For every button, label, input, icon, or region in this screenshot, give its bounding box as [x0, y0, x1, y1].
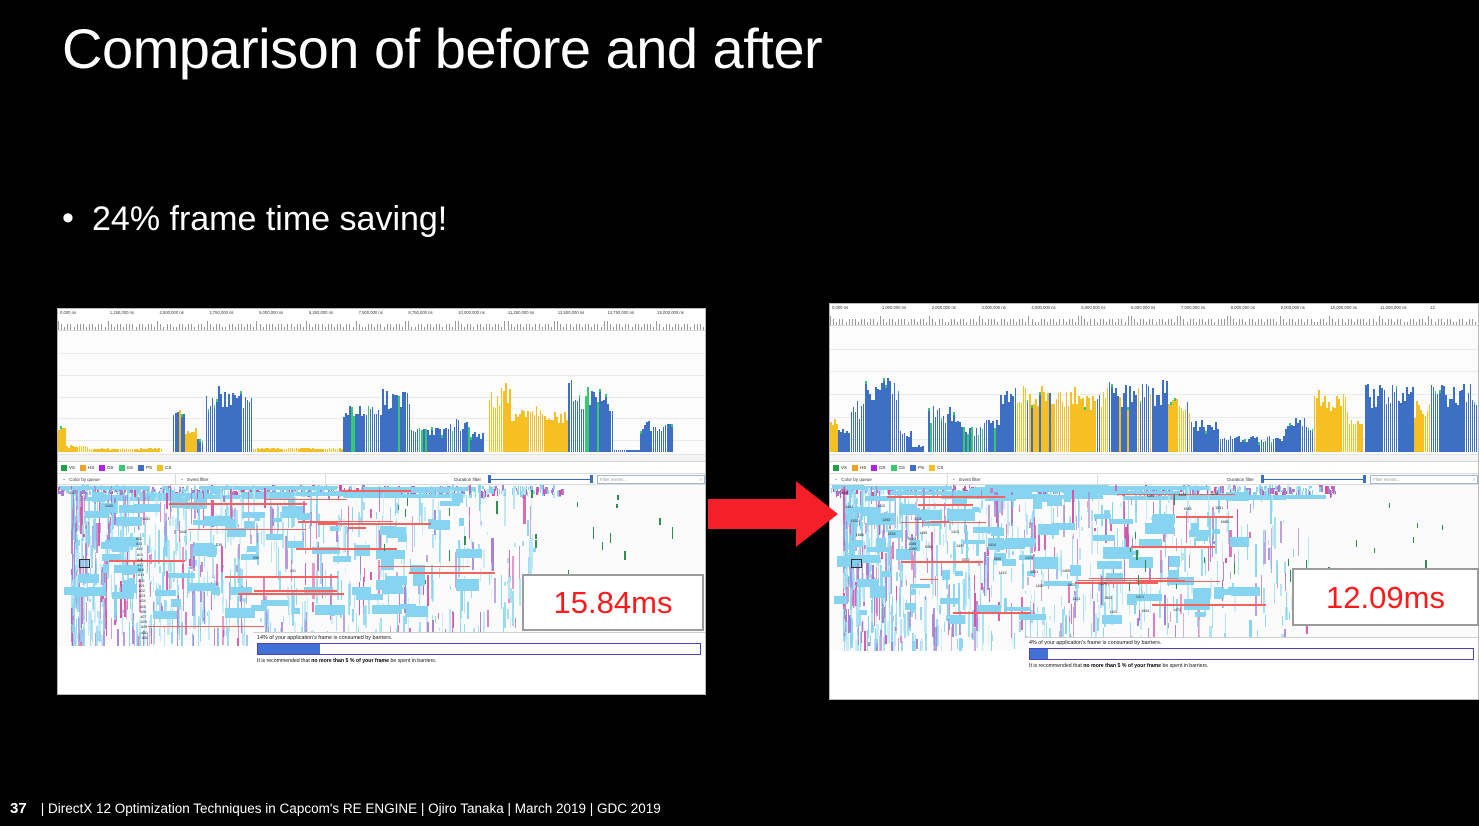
waterfall-event[interactable]: [1173, 596, 1175, 609]
waterfall-event[interactable]: [122, 609, 123, 635]
waterfall-event[interactable]: [1184, 546, 1186, 573]
waterfall-event[interactable]: [217, 628, 218, 646]
waterfall-event[interactable]: [981, 583, 983, 590]
waterfall-event[interactable]: [260, 618, 262, 622]
waterfall-event[interactable]: [1334, 491, 1336, 495]
waterfall-event-block[interactable]: [1168, 570, 1179, 577]
waterfall-event[interactable]: [968, 547, 970, 551]
legend-item-ds[interactable]: DS: [871, 465, 885, 471]
waterfall-event[interactable]: [848, 577, 849, 603]
waterfall-event[interactable]: [80, 507, 82, 534]
waterfall-event[interactable]: [878, 548, 879, 580]
waterfall-event[interactable]: [913, 609, 915, 612]
waterfall-event[interactable]: [149, 535, 150, 552]
waterfall-event[interactable]: [345, 568, 346, 573]
waterfall-event[interactable]: [499, 489, 500, 495]
waterfall-event[interactable]: [850, 596, 852, 620]
waterfall-event[interactable]: [1237, 509, 1238, 539]
waterfall-event[interactable]: [904, 497, 905, 504]
waterfall-event[interactable]: [1022, 564, 1024, 589]
waterfall-event[interactable]: [79, 491, 80, 503]
waterfall-event-block[interactable]: [851, 540, 863, 547]
waterfall-event[interactable]: [151, 628, 152, 644]
legend-item-hs[interactable]: HS: [80, 465, 94, 471]
waterfall-event[interactable]: [912, 633, 914, 651]
waterfall-event-block[interactable]: [1005, 607, 1030, 611]
waterfall-event[interactable]: [129, 622, 130, 646]
slider-handle-left[interactable]: [488, 475, 491, 483]
waterfall-event-block[interactable]: [1097, 561, 1122, 568]
waterfall-event[interactable]: [205, 609, 206, 624]
waterfall-event[interactable]: [72, 600, 73, 604]
waterfall-event-block[interactable]: [413, 574, 425, 586]
legend-item-ps[interactable]: PS: [138, 465, 152, 471]
waterfall-event[interactable]: [532, 534, 533, 570]
waterfall-event[interactable]: [213, 535, 214, 542]
waterfall-event[interactable]: [1176, 538, 1177, 551]
waterfall-event[interactable]: [96, 558, 97, 571]
waterfall-event[interactable]: [1278, 485, 1279, 491]
waterfall-event[interactable]: [871, 521, 872, 548]
waterfall-event[interactable]: [364, 568, 365, 582]
waterfall-event[interactable]: [937, 625, 938, 645]
waterfall-event[interactable]: [504, 602, 506, 628]
waterfall-event[interactable]: [1244, 486, 1245, 488]
waterfall-event[interactable]: [1271, 555, 1273, 574]
waterfall-event[interactable]: [189, 559, 190, 567]
waterfall-event[interactable]: [855, 640, 856, 651]
waterfall-event[interactable]: [469, 516, 471, 520]
waterfall-event[interactable]: [529, 540, 530, 558]
waterfall-event[interactable]: [872, 625, 874, 631]
waterfall-event[interactable]: [1012, 614, 1013, 645]
waterfall-event[interactable]: [937, 573, 939, 598]
waterfall-event[interactable]: [1289, 491, 1291, 494]
waterfall-event[interactable]: [944, 503, 945, 526]
waterfall-event-block[interactable]: [333, 556, 351, 562]
waterfall-event-block[interactable]: [116, 517, 142, 526]
gpu-utilization-graph-after[interactable]: [830, 326, 1478, 462]
waterfall-event[interactable]: [190, 531, 191, 541]
waterfall-event[interactable]: [1310, 486, 1312, 488]
waterfall-event[interactable]: [1222, 541, 1223, 564]
waterfall-event[interactable]: [509, 550, 510, 577]
waterfall-event[interactable]: [223, 496, 225, 502]
waterfall-event[interactable]: [504, 496, 506, 526]
waterfall-event-block[interactable]: [963, 540, 986, 544]
waterfall-event[interactable]: [487, 532, 488, 535]
waterfall-event[interactable]: [149, 559, 150, 592]
waterfall-event[interactable]: [522, 491, 524, 494]
waterfall-event[interactable]: [193, 594, 195, 629]
waterfall-event[interactable]: [1073, 534, 1074, 539]
waterfall-event-block[interactable]: [1214, 587, 1224, 599]
duration-filter-slider-after[interactable]: [1261, 475, 1366, 483]
waterfall-event-block[interactable]: [207, 545, 216, 556]
waterfall-event[interactable]: [1102, 569, 1104, 606]
waterfall-event[interactable]: [73, 620, 74, 632]
waterfall-event[interactable]: [1061, 596, 1062, 606]
waterfall-event[interactable]: [73, 630, 75, 646]
event-filter-dropdown-after[interactable]: ⌄ Event filter: [948, 474, 1098, 484]
waterfall-event-block[interactable]: [119, 505, 143, 513]
waterfall-event[interactable]: [501, 575, 502, 610]
waterfall-event[interactable]: [1054, 605, 1055, 623]
waterfall-event[interactable]: [523, 495, 525, 524]
waterfall-event-block[interactable]: [251, 605, 268, 609]
waterfall-event-block[interactable]: [193, 520, 214, 525]
waterfall-event[interactable]: [487, 610, 489, 626]
waterfall-event[interactable]: [957, 639, 958, 649]
waterfall-event-block[interactable]: [92, 492, 105, 503]
waterfall-event[interactable]: [1091, 510, 1093, 521]
waterfall-event[interactable]: [222, 616, 224, 645]
waterfall-event[interactable]: [92, 623, 93, 646]
waterfall-event[interactable]: [888, 535, 889, 570]
waterfall-event[interactable]: [307, 598, 308, 633]
waterfall-event[interactable]: [1079, 512, 1080, 538]
waterfall-event[interactable]: [945, 492, 946, 509]
waterfall-event[interactable]: [177, 616, 178, 646]
waterfall-event-block[interactable]: [247, 546, 257, 552]
waterfall-event[interactable]: [227, 627, 229, 646]
waterfall-event[interactable]: [904, 614, 906, 638]
waterfall-event[interactable]: [513, 486, 514, 508]
waterfall-event[interactable]: [1221, 486, 1223, 494]
waterfall-event[interactable]: [939, 605, 941, 614]
waterfall-event[interactable]: [540, 485, 543, 489]
waterfall-event[interactable]: [853, 632, 855, 640]
waterfall-event[interactable]: [201, 562, 203, 572]
waterfall-event[interactable]: [323, 523, 324, 543]
waterfall-event-block[interactable]: [1139, 539, 1162, 546]
waterfall-event[interactable]: [1325, 486, 1327, 494]
waterfall-event[interactable]: [352, 507, 353, 522]
waterfall-event[interactable]: [185, 612, 187, 635]
waterfall-event[interactable]: [370, 572, 372, 579]
waterfall-event-block[interactable]: [1104, 510, 1110, 516]
waterfall-event[interactable]: [843, 632, 844, 642]
waterfall-event[interactable]: [269, 491, 271, 496]
waterfall-event[interactable]: [847, 515, 849, 541]
waterfall-event[interactable]: [510, 616, 512, 628]
waterfall-event[interactable]: [134, 489, 135, 497]
waterfall-event[interactable]: [285, 567, 286, 572]
waterfall-event[interactable]: [89, 611, 91, 631]
waterfall-event[interactable]: [1270, 491, 1271, 493]
waterfall-event[interactable]: [1212, 605, 1213, 628]
waterfall-event[interactable]: [79, 592, 81, 628]
waterfall-event[interactable]: [1181, 538, 1182, 562]
waterfall-event-block[interactable]: [287, 541, 304, 548]
waterfall-event[interactable]: [1090, 589, 1091, 605]
waterfall-event-block[interactable]: [381, 559, 394, 570]
waterfall-event[interactable]: [896, 572, 898, 581]
waterfall-event[interactable]: [419, 588, 420, 605]
waterfall-event[interactable]: [174, 530, 176, 534]
waterfall-event[interactable]: [232, 487, 233, 493]
waterfall-event-block[interactable]: [973, 527, 1002, 534]
waterfall-event-block[interactable]: [407, 606, 428, 617]
waterfall-event-block[interactable]: [315, 605, 345, 615]
waterfall-event[interactable]: [469, 485, 471, 492]
waterfall-event-block[interactable]: [372, 605, 402, 614]
waterfall-event-block[interactable]: [188, 583, 216, 590]
waterfall-event[interactable]: [861, 632, 862, 643]
waterfall-event[interactable]: [480, 568, 481, 583]
legend-item-vs[interactable]: VS: [833, 465, 847, 471]
waterfall-event[interactable]: [1098, 493, 1099, 515]
waterfall-event[interactable]: [172, 516, 174, 526]
selected-event-highlight[interactable]: [851, 559, 862, 568]
waterfall-event[interactable]: [347, 527, 348, 559]
waterfall-event[interactable]: [81, 538, 83, 575]
waterfall-event[interactable]: [1007, 502, 1008, 535]
waterfall-event-block[interactable]: [459, 518, 464, 526]
waterfall-event[interactable]: [991, 635, 993, 641]
waterfall-event[interactable]: [1079, 548, 1081, 559]
waterfall-event[interactable]: [888, 576, 890, 595]
waterfall-event[interactable]: [183, 489, 185, 492]
waterfall-event[interactable]: [1065, 615, 1067, 634]
waterfall-event[interactable]: [162, 485, 163, 501]
waterfall-event[interactable]: [146, 569, 147, 574]
waterfall-event[interactable]: [489, 573, 490, 585]
waterfall-event[interactable]: [885, 583, 886, 603]
color-by-queue-dropdown-before[interactable]: ⌄ Color by queue: [58, 474, 176, 484]
waterfall-event[interactable]: [1097, 593, 1099, 602]
waterfall-event-block[interactable]: [382, 587, 403, 594]
waterfall-event-block[interactable]: [398, 534, 407, 542]
waterfall-event[interactable]: [988, 625, 989, 646]
waterfall-event[interactable]: [527, 492, 528, 496]
waterfall-event[interactable]: [1034, 590, 1035, 612]
waterfall-event[interactable]: [202, 610, 203, 623]
waterfall-event[interactable]: [985, 565, 987, 596]
waterfall-event[interactable]: [94, 602, 96, 623]
graph-hscrollbar-before[interactable]: [58, 454, 705, 461]
waterfall-event[interactable]: [986, 506, 987, 516]
waterfall-event[interactable]: [1309, 486, 1310, 489]
waterfall-event-block[interactable]: [1189, 530, 1209, 537]
waterfall-event[interactable]: [993, 560, 994, 581]
waterfall-event[interactable]: [1263, 531, 1264, 566]
waterfall-event[interactable]: [108, 512, 110, 523]
waterfall-event[interactable]: [1255, 544, 1257, 578]
waterfall-event[interactable]: [1215, 517, 1217, 554]
waterfall-event[interactable]: [72, 498, 73, 507]
waterfall-event[interactable]: [962, 581, 964, 585]
waterfall-event[interactable]: [925, 596, 927, 599]
waterfall-event[interactable]: [424, 507, 425, 521]
waterfall-event[interactable]: [222, 597, 224, 604]
waterfall-event[interactable]: [991, 585, 992, 599]
waterfall-event[interactable]: [896, 600, 897, 634]
waterfall-event-block[interactable]: [876, 538, 886, 549]
waterfall-event-block[interactable]: [242, 512, 265, 519]
waterfall-event[interactable]: [980, 559, 981, 595]
waterfall-event-block[interactable]: [112, 592, 134, 599]
waterfall-event[interactable]: [1282, 616, 1283, 626]
waterfall-event[interactable]: [898, 638, 899, 651]
waterfall-event[interactable]: [889, 608, 890, 644]
selected-event-highlight[interactable]: [79, 559, 90, 568]
waterfall-event[interactable]: [163, 547, 164, 568]
waterfall-event-block[interactable]: [153, 611, 177, 619]
waterfall-event[interactable]: [422, 506, 423, 535]
waterfall-event[interactable]: [514, 543, 516, 547]
waterfall-event[interactable]: [1238, 550, 1239, 575]
waterfall-event-block[interactable]: [168, 573, 195, 578]
waterfall-event[interactable]: [248, 491, 249, 525]
waterfall-event-block[interactable]: [1049, 497, 1062, 503]
waterfall-event[interactable]: [156, 583, 157, 614]
waterfall-event[interactable]: [1287, 485, 1289, 494]
waterfall-event[interactable]: [947, 541, 949, 554]
waterfall-event[interactable]: [256, 525, 258, 544]
waterfall-event[interactable]: [1116, 581, 1118, 609]
waterfall-event[interactable]: [1281, 495, 1283, 498]
waterfall-event[interactable]: [169, 486, 170, 488]
waterfall-event[interactable]: [100, 595, 101, 619]
waterfall-event[interactable]: [426, 555, 428, 562]
waterfall-event[interactable]: [341, 580, 342, 600]
waterfall-event[interactable]: [1146, 495, 1147, 518]
graph-hscrollbar-after[interactable]: [830, 454, 1478, 461]
waterfall-event[interactable]: [882, 602, 884, 618]
filter-events-input-after[interactable]: Filter events... ⌕: [1370, 475, 1478, 484]
filter-events-input-before[interactable]: Filter events... ⌕: [597, 475, 705, 484]
waterfall-event[interactable]: [1285, 575, 1286, 591]
waterfall-event[interactable]: [58, 491, 61, 494]
waterfall-event[interactable]: [1071, 604, 1072, 624]
waterfall-event-block[interactable]: [171, 599, 181, 606]
waterfall-event[interactable]: [1072, 490, 1074, 526]
waterfall-event[interactable]: [233, 510, 235, 517]
waterfall-event[interactable]: [1207, 512, 1208, 527]
waterfall-event[interactable]: [871, 613, 873, 622]
waterfall-event[interactable]: [1068, 586, 1069, 603]
waterfall-event[interactable]: [183, 589, 185, 611]
waterfall-event[interactable]: [899, 594, 901, 617]
waterfall-event[interactable]: [1174, 528, 1175, 536]
waterfall-event-block[interactable]: [356, 594, 383, 600]
waterfall-event-block[interactable]: [452, 493, 463, 502]
waterfall-event[interactable]: [1011, 568, 1012, 582]
waterfall-event[interactable]: [460, 587, 462, 619]
waterfall-event-block[interactable]: [456, 579, 479, 591]
waterfall-event[interactable]: [475, 492, 476, 498]
waterfall-event[interactable]: [94, 525, 96, 550]
waterfall-event[interactable]: [485, 491, 486, 498]
waterfall-event-block[interactable]: [1070, 565, 1081, 576]
waterfall-event[interactable]: [483, 612, 484, 634]
waterfall-event[interactable]: [354, 595, 355, 609]
waterfall-event[interactable]: [528, 487, 529, 490]
waterfall-event[interactable]: [522, 541, 524, 547]
waterfall-event[interactable]: [531, 486, 532, 490]
waterfall-event[interactable]: [1296, 486, 1298, 494]
waterfall-event-block[interactable]: [1195, 612, 1205, 617]
waterfall-event-block[interactable]: [294, 608, 299, 614]
waterfall-event[interactable]: [519, 546, 520, 579]
waterfall-event[interactable]: [862, 522, 863, 541]
waterfall-event[interactable]: [1280, 521, 1282, 543]
waterfall-event-block[interactable]: [862, 509, 879, 516]
waterfall-event[interactable]: [439, 628, 440, 631]
waterfall-event[interactable]: [1261, 486, 1262, 502]
waterfall-event[interactable]: [1030, 487, 1031, 492]
waterfall-event[interactable]: [856, 590, 858, 627]
waterfall-event[interactable]: [546, 490, 549, 494]
waterfall-event[interactable]: [553, 492, 554, 498]
waterfall-event[interactable]: [880, 630, 882, 651]
waterfall-event[interactable]: [111, 618, 112, 639]
waterfall-event[interactable]: [450, 586, 451, 590]
waterfall-event-block[interactable]: [78, 574, 99, 583]
waterfall-event[interactable]: [1270, 500, 1272, 524]
waterfall-event[interactable]: [1227, 487, 1229, 489]
waterfall-event[interactable]: [545, 489, 546, 494]
waterfall-event-block[interactable]: [1193, 588, 1212, 599]
waterfall-event[interactable]: [316, 491, 318, 521]
waterfall-event[interactable]: [1115, 485, 1117, 491]
waterfall-event[interactable]: [907, 611, 909, 636]
waterfall-event[interactable]: [185, 550, 187, 561]
waterfall-event[interactable]: [510, 576, 511, 582]
waterfall-event[interactable]: [151, 489, 153, 494]
waterfall-event[interactable]: [497, 488, 499, 491]
waterfall-event[interactable]: [900, 619, 902, 637]
waterfall-event[interactable]: [376, 512, 377, 519]
waterfall-event[interactable]: [501, 491, 502, 493]
waterfall-event[interactable]: [134, 630, 135, 646]
waterfall-event[interactable]: [168, 517, 169, 521]
waterfall-event-block[interactable]: [870, 586, 885, 598]
waterfall-event[interactable]: [885, 635, 887, 644]
waterfall-event[interactable]: [1081, 527, 1083, 531]
waterfall-event[interactable]: [250, 535, 251, 544]
waterfall-event[interactable]: [981, 500, 982, 509]
waterfall-event[interactable]: [123, 610, 125, 613]
waterfall-event-block[interactable]: [1019, 614, 1047, 620]
waterfall-event-block[interactable]: [282, 506, 304, 518]
waterfall-event[interactable]: [1025, 501, 1026, 521]
waterfall-event-block[interactable]: [834, 596, 847, 604]
waterfall-event[interactable]: [971, 633, 973, 638]
waterfall-event[interactable]: [85, 525, 86, 529]
waterfall-event[interactable]: [517, 490, 519, 496]
waterfall-event[interactable]: [166, 600, 167, 610]
duration-filter-slider-before[interactable]: [488, 475, 593, 483]
waterfall-event[interactable]: [361, 498, 363, 524]
waterfall-event[interactable]: [310, 489, 312, 514]
waterfall-event[interactable]: [1012, 501, 1013, 507]
waterfall-event[interactable]: [221, 572, 223, 593]
waterfall-event[interactable]: [891, 607, 892, 612]
waterfall-event[interactable]: [1170, 612, 1171, 622]
waterfall-event[interactable]: [344, 526, 346, 534]
waterfall-event[interactable]: [538, 487, 539, 492]
waterfall-event-block[interactable]: [1228, 587, 1235, 594]
waterfall-event[interactable]: [515, 618, 516, 628]
waterfall-event[interactable]: [134, 527, 135, 533]
waterfall-event[interactable]: [78, 496, 79, 527]
waterfall-event[interactable]: [432, 580, 434, 602]
waterfall-event[interactable]: [1097, 618, 1099, 631]
waterfall-event[interactable]: [336, 616, 337, 631]
waterfall-event-block[interactable]: [155, 590, 176, 596]
